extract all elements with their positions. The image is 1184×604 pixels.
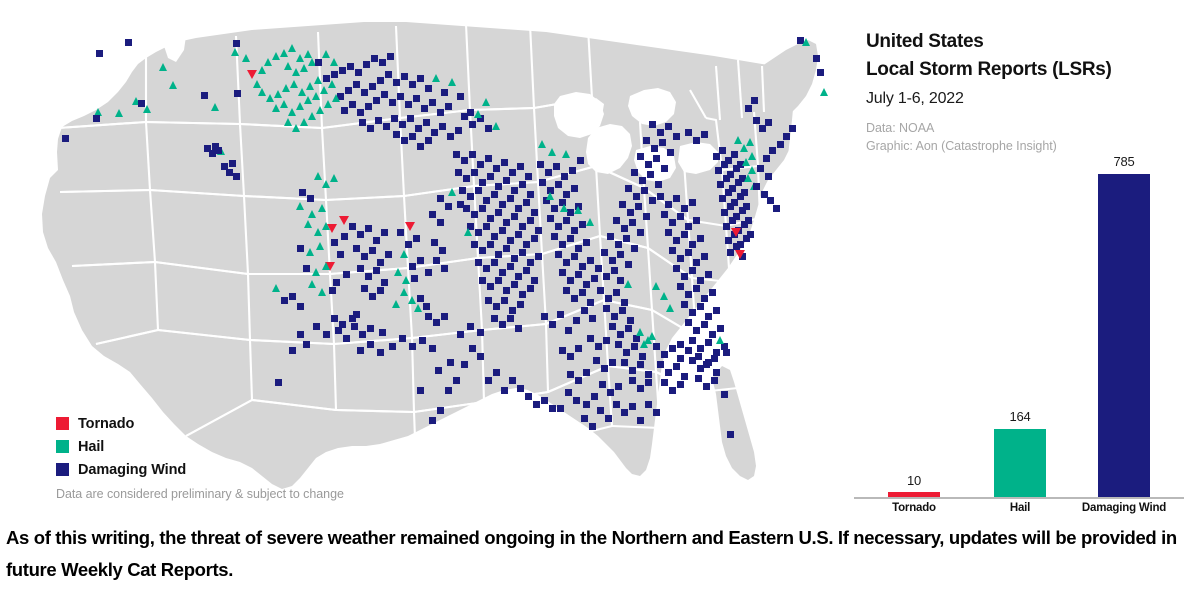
credit-data-source: Data: NOAA	[866, 119, 1176, 137]
title-block: United States Local Storm Reports (LSRs)…	[866, 28, 1176, 155]
hail-color-swatch	[56, 440, 69, 453]
bar-label-tornado: Tornado	[874, 502, 954, 514]
page-title-line-1: United States	[866, 28, 1176, 56]
bar-label-damaging-wind: Damaging Wind	[1070, 502, 1178, 514]
credits-block: Data: NOAA Graphic: Aon (Catastrophe Ins…	[866, 119, 1176, 155]
bar-value-tornado: 10	[874, 473, 954, 488]
bar-rect-damaging-wind	[1098, 174, 1150, 497]
legend-item-hail: Hail	[56, 435, 186, 458]
page-title-line-2: Local Storm Reports (LSRs)	[866, 56, 1176, 84]
date-range-subtitle: July 1-6, 2022	[866, 86, 1176, 112]
bars-area: 10 164 785	[854, 160, 1184, 497]
bar-label-hail: Hail	[980, 502, 1060, 514]
article-caption: As of this writing, the threat of severe…	[6, 522, 1178, 586]
bar-rect-hail	[994, 429, 1046, 497]
tornado-color-swatch	[56, 417, 69, 430]
lsr-infographic: Tornado Hail Damaging Wind Data are cons…	[0, 0, 1184, 604]
lsr-count-bar-chart: 10 164 785 Tornado Hail Damaging Wind	[854, 160, 1184, 510]
map-disclaimer-text: Data are considered preliminary & subjec…	[56, 487, 344, 501]
map-legend: Tornado Hail Damaging Wind	[56, 412, 186, 481]
damaging-wind-color-swatch	[56, 463, 69, 476]
us-storm-report-map: Tornado Hail Damaging Wind Data are cons…	[0, 0, 846, 512]
credit-graphic-source: Graphic: Aon (Catastrophe Insight)	[866, 137, 1176, 155]
legend-item-damaging-wind: Damaging Wind	[56, 458, 186, 481]
bar-value-damaging-wind: 785	[1084, 154, 1164, 169]
chart-baseline-axis	[854, 497, 1184, 499]
bar-value-hail: 164	[980, 409, 1060, 424]
legend-item-tornado: Tornado	[56, 412, 186, 435]
right-panel: United States Local Storm Reports (LSRs)…	[846, 0, 1184, 512]
legend-label-tornado: Tornado	[78, 416, 134, 432]
legend-label-hail: Hail	[78, 439, 104, 455]
legend-label-damaging-wind: Damaging Wind	[78, 462, 186, 478]
